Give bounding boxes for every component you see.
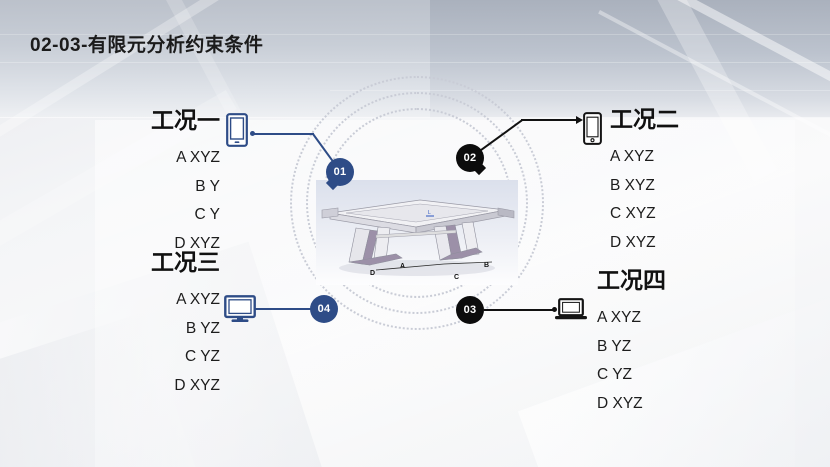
product-cad-image: L D A C B xyxy=(316,180,518,285)
connector-line-04-horizontal xyxy=(252,308,312,310)
group-case1: 工况一 A XYZ B Y C Y D XYZ xyxy=(92,108,220,251)
group-case2-heading: 工况二 xyxy=(610,107,760,132)
monitor-icon[interactable] xyxy=(224,295,256,328)
tablet-icon[interactable] xyxy=(226,113,248,152)
group-case1-line-3: C Y xyxy=(92,207,220,223)
table-cad-svg: L D A C B xyxy=(316,180,518,285)
group-case2-line-3: C XYZ xyxy=(610,206,760,222)
group-case3-line-3: C YZ xyxy=(92,349,220,365)
page-title: 02-03-有限元分析约束条件 xyxy=(30,30,263,57)
group-case2-line-2: B XYZ xyxy=(610,178,760,194)
group-case4-line-4: D XYZ xyxy=(597,396,747,412)
group-case1-line-2: B Y xyxy=(92,179,220,195)
group-case3-line-4: D XYZ xyxy=(92,378,220,394)
connector-line-03-horizontal xyxy=(484,309,556,311)
badge-02[interactable]: 02 xyxy=(456,144,484,172)
leg-label-D: D xyxy=(370,270,375,277)
connector-arrow-02 xyxy=(576,116,583,124)
group-case4-heading: 工况四 xyxy=(597,268,747,293)
group-case2: 工况二 A XYZ B XYZ C XYZ D XYZ xyxy=(610,107,760,250)
badge-01[interactable]: 01 xyxy=(326,158,354,186)
group-case3-line-1: A XYZ xyxy=(92,292,220,308)
connector-line-01-horizontal xyxy=(252,133,314,135)
badge-02-label: 02 xyxy=(464,152,477,164)
group-case3: 工况三 A XYZ B YZ C YZ D XYZ xyxy=(92,250,220,393)
badge-03-label: 03 xyxy=(464,304,477,316)
group-case4-line-2: B YZ xyxy=(597,339,747,355)
group-case1-line-1: A XYZ xyxy=(92,150,220,166)
leg-label-B: B xyxy=(484,262,489,269)
connector-line-02-horizontal xyxy=(521,119,578,121)
badge-04-label: 04 xyxy=(318,303,331,315)
smartphone-icon[interactable] xyxy=(583,112,602,150)
leg-label-C: C xyxy=(454,274,459,281)
laptop-icon[interactable] xyxy=(554,298,588,327)
axis-label-L: L xyxy=(428,210,431,216)
group-case1-heading: 工况一 xyxy=(92,108,220,133)
badge-04[interactable]: 04 xyxy=(310,295,338,323)
group-case4: 工况四 A XYZ B YZ C YZ D XYZ xyxy=(597,268,747,411)
leg-label-A: A xyxy=(400,263,405,270)
group-case4-line-3: C YZ xyxy=(597,367,747,383)
group-case4-line-1: A XYZ xyxy=(597,310,747,326)
badge-03[interactable]: 03 xyxy=(456,296,484,324)
group-case3-heading: 工况三 xyxy=(92,250,220,275)
slide-canvas: 02-03-有限元分析约束条件 xyxy=(0,0,830,467)
badge-01-label: 01 xyxy=(334,166,347,178)
group-case3-line-2: B YZ xyxy=(92,321,220,337)
group-case2-line-1: A XYZ xyxy=(610,149,760,165)
group-case2-line-4: D XYZ xyxy=(610,235,760,251)
